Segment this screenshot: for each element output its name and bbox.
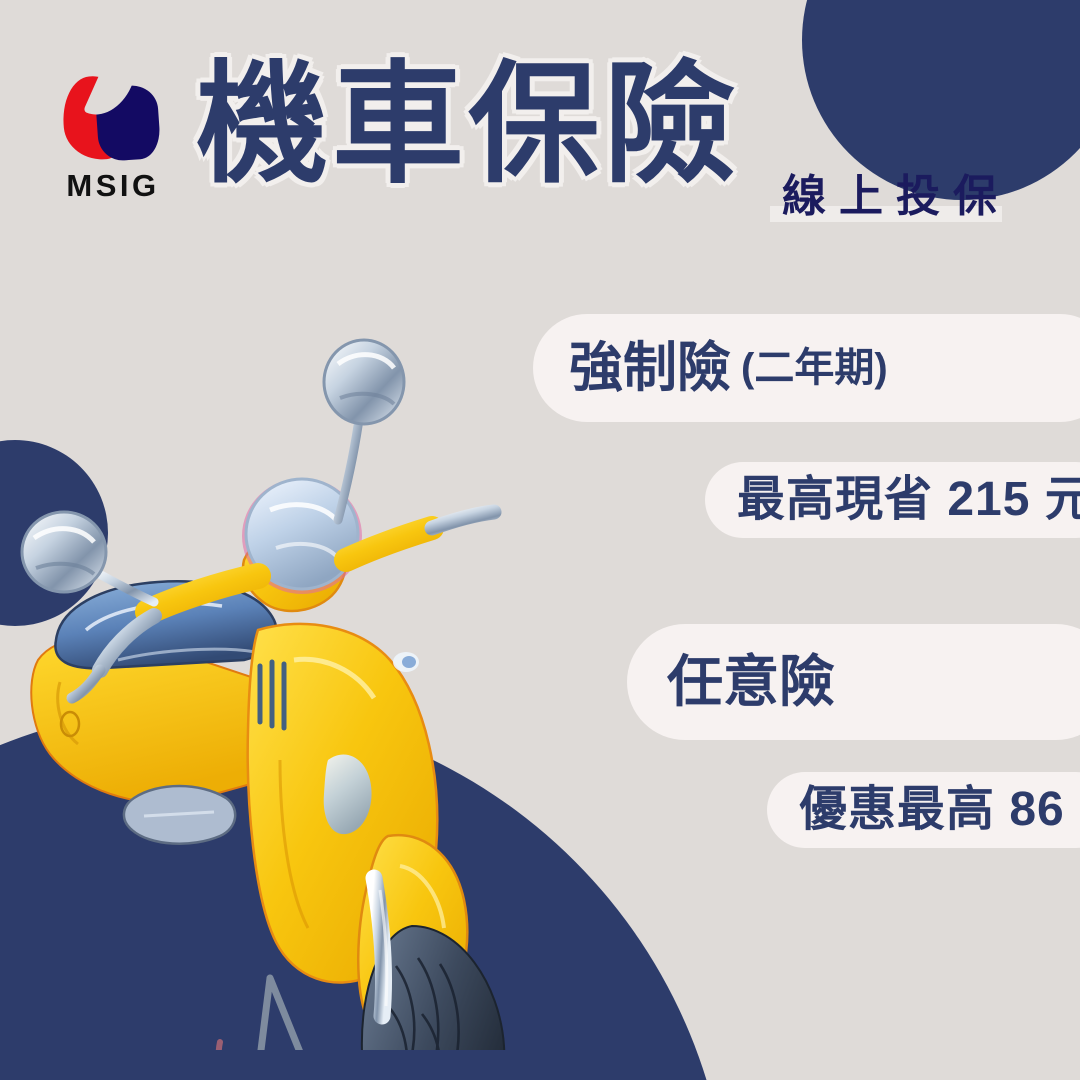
badge-max-savings-label: 最高現省 215 元 bbox=[737, 476, 1080, 524]
badge-optional-label: 任意險 bbox=[667, 654, 835, 710]
page-subtitle: 線上投保 bbox=[782, 160, 1010, 224]
badge-compulsory-note: (二年期) bbox=[741, 348, 888, 388]
badge-compulsory-label: 強制險 bbox=[569, 341, 731, 395]
badge-optional-insurance[interactable]: 任意險 bbox=[627, 624, 1080, 740]
badge-compulsory-insurance[interactable]: 強制險 (二年期) bbox=[533, 314, 1080, 422]
page-title: 機車保險 bbox=[196, 48, 740, 201]
promo-poster: MSIG 機車保險 線上投保 強制險 (二年期) 最高現省 215 元 任意險 … bbox=[0, 0, 1080, 1080]
badge-max-discount[interactable]: 優惠最高 86 折 bbox=[767, 772, 1080, 848]
msig-flame-logo-icon bbox=[61, 72, 165, 164]
badge-max-savings[interactable]: 最高現省 215 元 bbox=[705, 462, 1080, 538]
brand-wordmark: MSIG bbox=[52, 170, 174, 201]
badge-max-discount-label: 優惠最高 86 折 bbox=[799, 786, 1080, 834]
yellow-scooter-illustration bbox=[8, 330, 628, 1050]
brand-logo: MSIG bbox=[52, 72, 174, 201]
subtitle-text: 線上投保 bbox=[782, 172, 1010, 221]
